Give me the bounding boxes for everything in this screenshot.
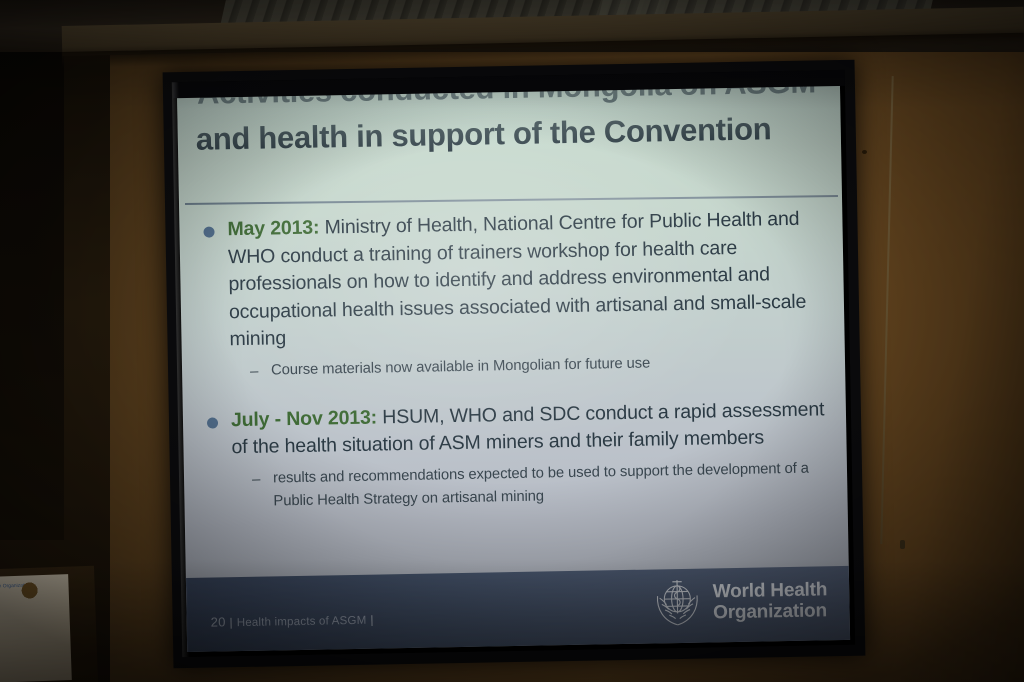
- footer-separator-end: |: [370, 615, 373, 627]
- slide-body: May 2013: Ministry of Health, National C…: [201, 205, 830, 524]
- hanging-cord-end: [900, 540, 905, 549]
- who-name-line-2: Organization: [713, 600, 828, 623]
- bullet-item: July - Nov 2013: HSUM, WHO and SDC condu…: [205, 396, 829, 462]
- slide-number: 20: [211, 614, 226, 629]
- who-name-line-1: World Health: [713, 579, 828, 602]
- dash-icon: –: [250, 359, 262, 382]
- slide-footer: 20|Health impacts of ASGM|: [186, 566, 850, 652]
- poster: World Health Organization स्वास्थ्य Publ…: [0, 574, 72, 682]
- sub-bullet-text: results and recommendations expected to …: [273, 457, 830, 513]
- who-emblem-icon: [651, 577, 704, 630]
- bullet-date: May 2013:: [227, 217, 319, 241]
- photo-scene: World Health Organization स्वास्थ्य Publ…: [0, 0, 1024, 682]
- dash-icon: –: [252, 467, 264, 490]
- bullet-text: May 2013: Ministry of Health, National C…: [227, 205, 826, 353]
- bullet-dot-icon: [207, 417, 218, 428]
- who-logo-text: World Health Organization: [713, 579, 828, 623]
- left-wall-shadow: [0, 40, 64, 540]
- wall-screw-dot: [862, 150, 867, 154]
- slide-canvas: Activities conducted in Mongolia on ASGM…: [177, 75, 850, 652]
- poster-secondary-logo-icon: [20, 581, 39, 604]
- bullet-dot-icon: [203, 226, 214, 237]
- sub-bullet-item: – Course materials now available in Mong…: [250, 349, 827, 383]
- sub-bullet-text: Course materials now available in Mongol…: [271, 352, 650, 382]
- footer-meta: 20|Health impacts of ASGM|: [211, 612, 378, 630]
- bullet-text: July - Nov 2013: HSUM, WHO and SDC condu…: [231, 396, 829, 462]
- sub-bullet-item: – results and recommendations expected t…: [252, 457, 830, 514]
- deck-title: Health impacts of ASGM: [237, 615, 367, 629]
- footer-separator: |: [229, 617, 232, 629]
- projection-screen: Activities conducted in Mongolia on ASGM…: [163, 60, 866, 669]
- bullet-item: May 2013: Ministry of Health, National C…: [201, 205, 826, 354]
- bullet-date: July - Nov 2013:: [231, 406, 377, 431]
- who-logo: World Health Organization: [651, 574, 828, 629]
- title-divider: [185, 195, 838, 205]
